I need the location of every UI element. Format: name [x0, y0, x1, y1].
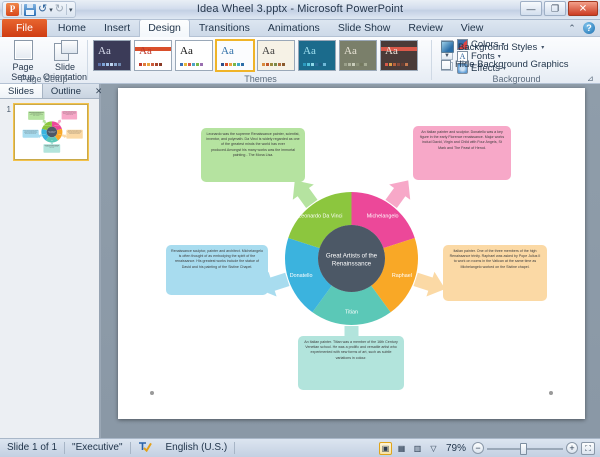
minimize-button[interactable]: —: [520, 1, 542, 16]
theme-thumbnail-1[interactable]: Aa: [134, 40, 172, 71]
ribbon: Page Setup Slide Orientation ▾ Page Setu…: [0, 37, 600, 84]
theme-thumbnail-3[interactable]: Aa: [216, 40, 254, 71]
wheel-segment-label-michelangelo: Michelangelo: [54, 124, 60, 126]
slide-decor-dot: [150, 391, 154, 395]
theme-thumbnail-sample-text: Aa: [344, 45, 357, 57]
view-slide-sorter-button[interactable]: ▦: [395, 442, 408, 455]
work-area: Slides Outline ✕ 1 Great Artists of theR…: [0, 84, 600, 438]
wheel-center-label-2: Renainssance: [332, 261, 372, 268]
background-styles-icon: [441, 41, 454, 53]
divider: [234, 442, 235, 454]
theme-thumbnail-swatches: [262, 63, 285, 66]
theme-thumbnail-7[interactable]: Aa: [380, 40, 418, 71]
theme-thumbnail-swatches: [98, 63, 121, 66]
wheel-segment-label-donatello: Donatello: [290, 273, 313, 279]
background-styles-label: Background Styles: [458, 42, 537, 53]
hide-background-graphics-label: Hide Background Graphics: [455, 59, 569, 70]
slide-thumbnail-number: 1: [4, 104, 11, 160]
slide-thumbnail-preview[interactable]: Great Artists of theRenainssanceLeonardo…: [14, 104, 88, 160]
window-controls: — ❐ ✕: [520, 1, 598, 16]
group-label-themes: Themes: [89, 74, 432, 84]
ribbon-tabs: File Home Insert Design Transitions Anim…: [0, 20, 600, 37]
callout-raphael[interactable]: Italian painter. One of the three member…: [443, 245, 547, 301]
theme-thumbnail-swatches: [180, 63, 203, 66]
theme-thumbnail-sample-text: Aa: [262, 45, 275, 57]
language-label[interactable]: English (U.S.): [159, 439, 235, 457]
tab-slide-show[interactable]: Slide Show: [329, 20, 400, 37]
tab-design[interactable]: Design: [139, 19, 190, 38]
tab-transitions[interactable]: Transitions: [190, 20, 259, 37]
theme-thumbnail-sample-text: Aa: [303, 45, 316, 57]
callout-leonardo[interactable]: Leonardo was the supreme Renaissance pai…: [201, 128, 305, 182]
wheel-center-label-1: Great Artists of the: [326, 253, 378, 260]
ribbon-tab-right-controls: ⌃ ?: [566, 22, 595, 34]
theme-thumbnail-sample-text: Aa: [98, 45, 111, 57]
fit-slide-button[interactable]: ⛶: [581, 442, 595, 455]
wheel-center-label-2: Renainssance: [49, 132, 56, 134]
callout-michelangelo-right[interactable]: An Italian painter and sculptor. Donatel…: [413, 126, 511, 180]
divider: [431, 40, 432, 80]
background-styles-button[interactable]: Background Styles ▾: [441, 41, 544, 53]
help-icon[interactable]: ?: [583, 22, 595, 34]
view-normal-button[interactable]: ▣: [379, 442, 392, 455]
slides-pane-body: 1 Great Artists of theRenainssanceLeonar…: [0, 99, 99, 438]
close-button[interactable]: ✕: [568, 1, 598, 16]
slide-orientation-icon: [52, 40, 78, 62]
callout-text: An Italian painter. Titian was a member …: [44, 145, 59, 148]
wheel-segment-label-leonardo-da-vinci: Leonardo Da Vinci: [298, 214, 342, 220]
slide-decor-dot: [549, 391, 553, 395]
tab-home[interactable]: Home: [49, 20, 95, 37]
tab-animations[interactable]: Animations: [259, 20, 329, 37]
slide-count-label[interactable]: Slide 1 of 1: [0, 439, 64, 457]
powerpoint-window: P ↺ ▾ ↻ ▾ Idea Wheel 3.pptx - Microsoft …: [0, 0, 600, 457]
title-bar: P ↺ ▾ ↻ ▾ Idea Wheel 3.pptx - Microsoft …: [0, 0, 600, 20]
checkbox-icon[interactable]: [441, 60, 451, 70]
ribbon-tab-strip: File Home Insert Design Transitions Anim…: [0, 20, 600, 37]
theme-thumbnail-sample-text: Aa: [385, 45, 398, 57]
dialog-launcher-icon[interactable]: ⊿: [587, 75, 595, 83]
slide-canvas: Great Artists of theRenainssanceLeonardo…: [101, 84, 600, 438]
ribbon-group-background: Background Styles ▾ Hide Background Grap…: [433, 37, 600, 84]
callout-donatello[interactable]: Renaissance sculptor, painter and archit…: [23, 130, 39, 138]
callout-titian[interactable]: An Italian painter. Titian was a member …: [298, 336, 404, 390]
theme-name-label[interactable]: "Executive": [65, 439, 129, 457]
theme-thumbnail-4[interactable]: Aa: [257, 40, 295, 71]
spell-check-button[interactable]: [131, 439, 159, 457]
status-bar-right: ▣ ▦ ▥ ▽ 79% − + ⛶: [379, 442, 600, 455]
callout-donatello[interactable]: Renaissance sculptor, painter and archit…: [166, 245, 268, 295]
ribbon-group-themes: AaAaAaAaAaAaAaAa ▲ ▼ ▤ Colors ▾ A Fonts …: [89, 37, 432, 84]
theme-thumbnail-swatches: [221, 63, 244, 66]
zoom-out-button[interactable]: −: [472, 442, 484, 454]
slide-thumbnail-item[interactable]: 1 Great Artists of theRenainssanceLeonar…: [0, 99, 99, 165]
callout-michelangelo-right[interactable]: An Italian painter and sculptor. Donatel…: [62, 111, 77, 120]
wheel-segment-label-titian: Titian: [345, 310, 358, 316]
status-bar: Slide 1 of 1 "Executive" English (U.S.) …: [0, 438, 600, 457]
theme-thumbnail-swatches: [385, 63, 408, 66]
close-icon: ✕: [579, 3, 587, 14]
group-label-background: Background: [433, 74, 600, 84]
theme-thumbnail-swatches: [344, 63, 367, 66]
callout-raphael[interactable]: Italian painter. One of the three member…: [66, 130, 82, 139]
group-label-page-setup: Page Setup: [0, 74, 88, 84]
callout-text: Italian painter. One of the three member…: [448, 249, 542, 270]
themes-gallery[interactable]: AaAaAaAaAaAaAaAa: [93, 40, 418, 71]
restore-button[interactable]: ❐: [544, 1, 566, 16]
ribbon-group-page-setup: Page Setup Slide Orientation ▾ Page Setu…: [0, 37, 88, 84]
theme-thumbnail-sample-text: Aa: [180, 45, 193, 57]
window-title: Idea Wheel 3.pptx - Microsoft PowerPoint: [0, 3, 600, 15]
minimize-icon: —: [527, 4, 536, 14]
divider: [87, 40, 88, 80]
minimize-ribbon-icon[interactable]: ⌃: [566, 22, 578, 34]
slides-pane-tabs: Slides Outline ✕: [0, 84, 99, 99]
theme-thumbnail-5[interactable]: Aa: [298, 40, 336, 71]
restore-icon: ❐: [551, 3, 559, 14]
theme-thumbnail-sample-text: Aa: [221, 45, 234, 57]
view-slide-show-button[interactable]: ▽: [427, 442, 440, 455]
callout-text: An Italian painter. Titian was a member …: [303, 340, 399, 361]
wheel-arrow-raphael: [414, 272, 446, 297]
zoom-in-button[interactable]: +: [566, 442, 578, 454]
theme-thumbnail-6[interactable]: Aa: [339, 40, 377, 71]
tab-insert[interactable]: Insert: [95, 20, 139, 37]
hide-background-graphics-checkbox[interactable]: Hide Background Graphics: [441, 59, 569, 70]
theme-thumbnail-2[interactable]: Aa: [175, 40, 213, 71]
zoom-slider[interactable]: [487, 442, 563, 455]
callout-text: Leonardo was the supreme Renaissance pai…: [206, 132, 300, 158]
theme-thumbnail-0[interactable]: Aa: [93, 40, 131, 71]
zoom-level-label[interactable]: 79%: [443, 443, 469, 454]
tab-file[interactable]: File: [2, 19, 47, 37]
theme-thumbnail-swatches: [139, 63, 162, 66]
theme-thumbnail-swatches: [303, 63, 326, 66]
idea-wheel-diagram[interactable]: Great Artists of theRenainssanceLeonardo…: [118, 88, 585, 419]
callout-text: Leonardo was the supreme Renaissance pai…: [29, 112, 44, 116]
wheel-segment-label-raphael: Raphael: [392, 273, 412, 279]
view-reading-button[interactable]: ▥: [411, 442, 424, 455]
callout-text: An Italian painter and sculptor. Donatel…: [62, 112, 76, 115]
callout-text: Renaissance sculptor, painter and archit…: [23, 130, 38, 133]
tab-outline[interactable]: Outline: [43, 84, 89, 98]
tab-slides[interactable]: Slides: [0, 84, 43, 98]
tab-view[interactable]: View: [452, 20, 493, 37]
callout-leonardo[interactable]: Leonardo was the supreme Renaissance pai…: [28, 111, 44, 120]
wheel-segment-label-michelangelo: Michelangelo: [367, 214, 399, 220]
tab-review[interactable]: Review: [399, 20, 451, 37]
callout-titian[interactable]: An Italian painter. Titian was a member …: [43, 144, 60, 153]
callout-text: An Italian painter and sculptor. Donatel…: [418, 130, 506, 151]
spell-check-icon: [138, 440, 152, 452]
callout-text: Renaissance sculptor, painter and archit…: [171, 249, 263, 270]
callout-text: Italian painter. One of the three member…: [67, 130, 82, 133]
page-setup-icon: [10, 40, 36, 62]
theme-thumbnail-sample-text: Aa: [139, 45, 152, 57]
slide-surface[interactable]: Great Artists of theRenainssanceLeonardo…: [118, 88, 585, 419]
slides-pane: Slides Outline ✕ 1 Great Artists of theR…: [0, 84, 100, 438]
chevron-down-icon: ▾: [541, 44, 544, 51]
zoom-slider-handle[interactable]: [520, 443, 527, 455]
